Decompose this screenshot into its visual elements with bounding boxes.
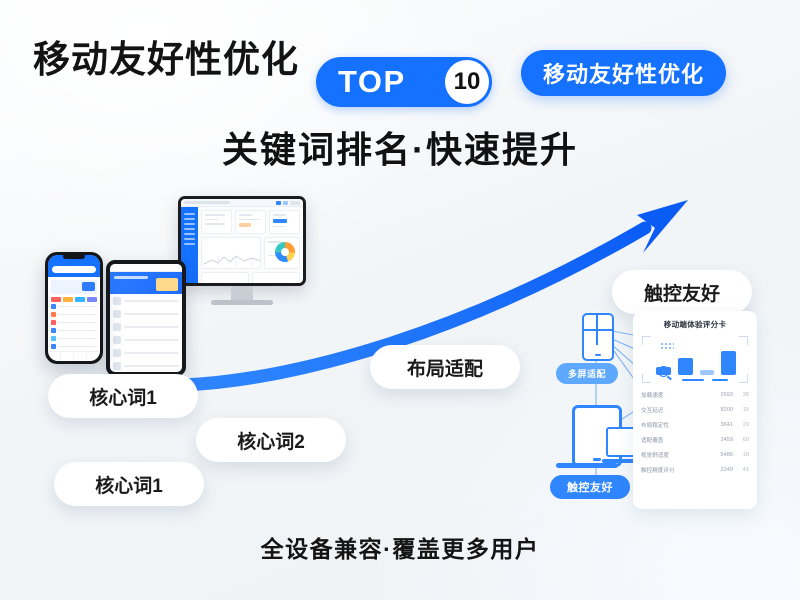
footer-caption: 全设备兼容·覆盖更多用户 [0,530,800,564]
table-row: 布局稳定性 3641 29 [640,417,750,432]
dash-card-filters [201,210,232,234]
tablet-mockup [106,260,186,376]
pill-layout-fit[interactable]: 布局适配 [370,345,520,389]
tag-touch-friendly: 触控友好 [550,475,630,499]
device-stand-bar [556,463,618,468]
bars-group [656,337,736,375]
top-rank-badge: TOP 10 [316,57,492,107]
dashboard-ui [181,199,303,283]
phone-notch [63,254,85,259]
dashboard-content [198,207,303,283]
dashboard-topbar [181,199,303,207]
pill-keyword-1[interactable]: 核心词1 [48,374,198,418]
list-item [48,344,100,349]
dash-card-actions [269,210,300,234]
phone-tabbar[interactable] [48,351,100,361]
dash-card-area2 [252,272,300,283]
dash-card-area1 [201,272,249,283]
top-badge-number: 10 [445,60,489,104]
score-rows: 加载速度 2693 38 交互延迟 8200 15 布局稳定性 3641 29 … [640,387,750,477]
quick-icons [48,297,100,302]
list-item [48,304,100,309]
corner-tag: 移动友好性优化 [521,50,726,96]
score-bar-chart [642,336,748,383]
list-item [113,323,179,331]
table-row: 触控精度评分 2249 41 [640,462,750,477]
dash-card-donut [264,237,300,269]
monitor-base [211,300,273,305]
monitor-stand [231,286,253,300]
tag-multi-screen: 多屏适配 [556,363,618,384]
monitor-screen [178,196,306,286]
tablet-screen [110,264,182,372]
list-item [113,297,179,305]
search-input[interactable] [52,266,96,273]
page-title: 移动友好性优化 [33,29,299,83]
phone-icon [582,313,614,361]
list-item [113,349,179,357]
page-subtitle: 关键词排名·快速提升 [0,121,800,173]
tablet-statusbar [110,264,182,272]
dash-card-linechart [201,237,261,269]
tablet-hero-banner [110,272,182,294]
list-item [113,310,179,318]
poster-canvas: 移动友好性优化 TOP 10 移动友好性优化 关键词排名·快速提升 [0,0,800,600]
list-item [113,336,179,344]
table-row: 适配覆盖 2459 60 [640,432,750,447]
table-row: 视觉舒适度 5486 18 [640,447,750,462]
list-item [48,336,100,341]
list-item [48,312,100,317]
phone-mockup [45,252,103,364]
score-card: 移动端体验评分卡 加载速度 2693 38 [633,311,757,509]
list-item [48,328,100,333]
promo-banner [51,280,97,294]
device-network-cluster: 多屏适配 触控友好 移动端体验评分卡 [548,305,763,515]
desktop-monitor-mockup [178,196,306,305]
top-badge-word: TOP [338,64,406,100]
dash-card-summary [235,210,266,234]
pill-keyword-3[interactable]: 核心词1 [54,462,204,506]
pill-keyword-2[interactable]: 核心词2 [196,418,346,462]
donut-chart [275,242,295,262]
score-card-title: 移动端体验评分卡 [640,319,750,330]
list-item [113,362,179,370]
table-row: 加载速度 2693 38 [640,387,750,402]
phone-screen [48,255,100,361]
table-row: 交互延迟 8200 15 [640,402,750,417]
list-item [48,320,100,325]
tablet-list [110,294,182,372]
